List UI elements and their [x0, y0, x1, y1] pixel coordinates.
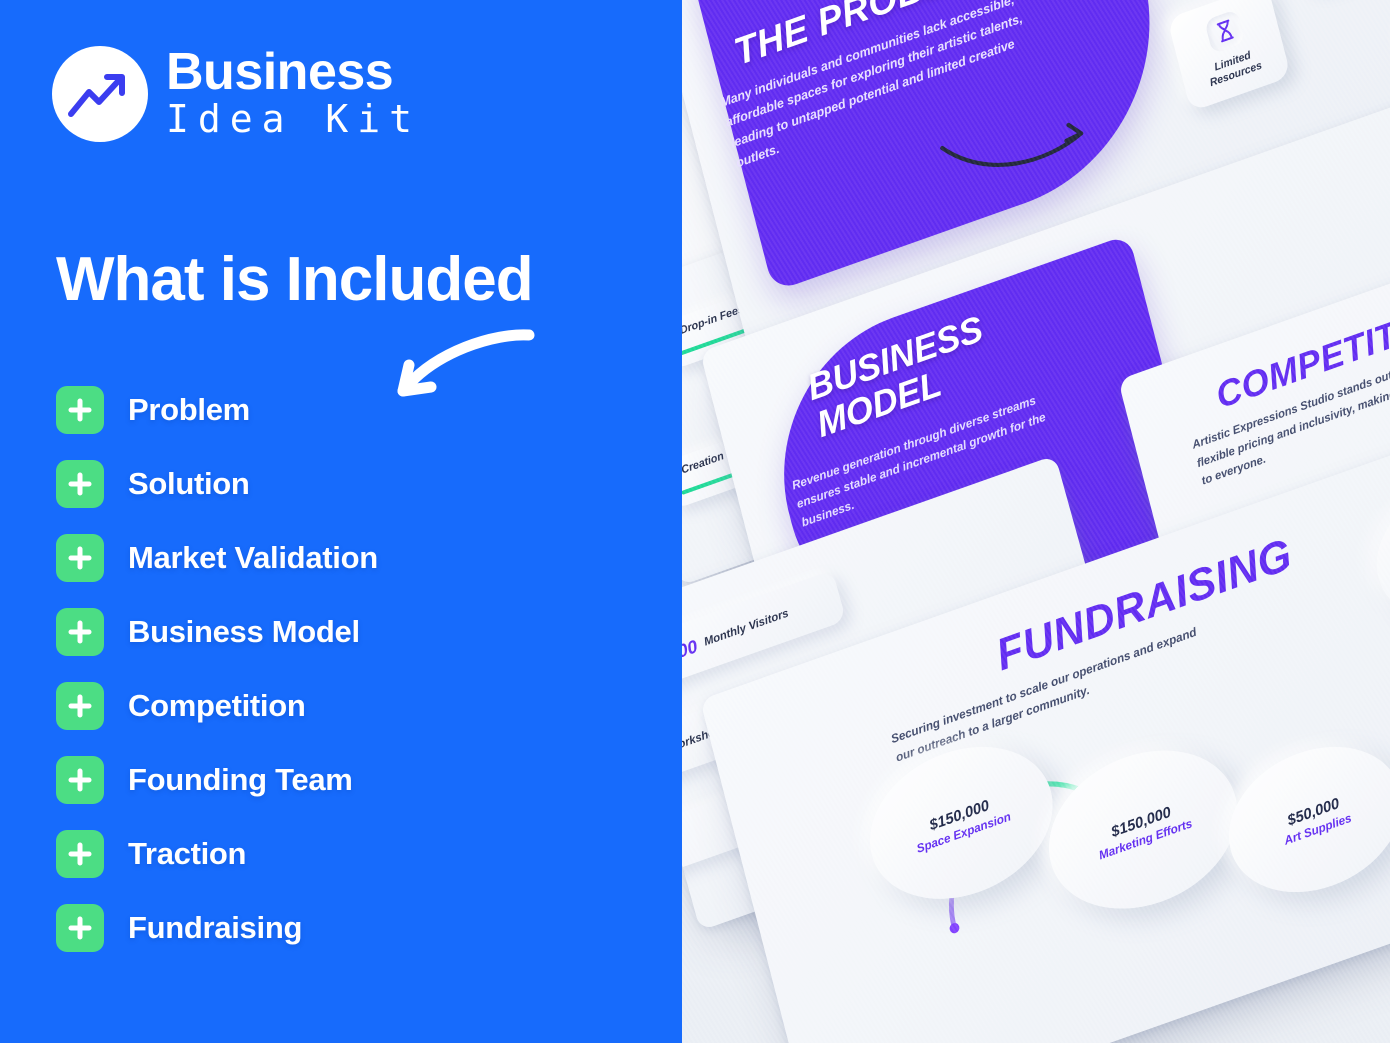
list-item-problem[interactable]: Problem	[56, 386, 616, 434]
left-blue-panel: Business Idea Kit What is Included Probl…	[0, 0, 682, 1043]
plus-icon	[56, 904, 104, 952]
plus-icon	[56, 830, 104, 878]
brand-logo: Business Idea Kit	[52, 46, 421, 142]
growth-chart-arrow-icon	[52, 46, 148, 142]
list-item-label: Problem	[128, 392, 250, 428]
fundraising-bubble-decor	[1362, 458, 1390, 640]
traction-stat-label: Monthly Visitors	[703, 607, 790, 648]
presentation-promo-graphic: Drop-in Fees Creation Workshops THE PROB…	[0, 0, 1390, 1043]
brand-wordmark: Business Idea Kit	[166, 46, 421, 142]
list-item-traction[interactable]: Traction	[56, 830, 616, 878]
list-item-label: Solution	[128, 466, 250, 502]
list-item-business-model[interactable]: Business Model	[56, 608, 616, 656]
plus-icon	[56, 756, 104, 804]
list-item-label: Market Validation	[128, 540, 378, 576]
plus-icon	[56, 608, 104, 656]
plus-icon	[56, 460, 104, 508]
brand-name-line2: Idea Kit	[166, 98, 421, 142]
list-item-label: Competition	[128, 688, 306, 724]
list-item-competition[interactable]: Competition	[56, 682, 616, 730]
chip-label: Limited Resources	[1187, 40, 1282, 96]
plus-icon	[56, 386, 104, 434]
list-item-solution[interactable]: Solution	[56, 460, 616, 508]
list-item-label: Business Model	[128, 614, 360, 650]
plus-icon	[56, 682, 104, 730]
page-title: What is Included	[56, 244, 533, 315]
list-item-founding-team[interactable]: Founding Team	[56, 756, 616, 804]
included-items-list: Problem Solution Market Validation Busin…	[56, 386, 616, 978]
problem-chip-limited-resources: Limited Resources	[1167, 0, 1291, 112]
list-item-fundraising[interactable]: Fundraising	[56, 904, 616, 952]
hourglass-icon	[1204, 9, 1245, 54]
list-item-market-validation[interactable]: Market Validation	[56, 534, 616, 582]
list-item-label: Fundraising	[128, 910, 302, 946]
brand-name-line1: Business	[166, 46, 421, 98]
list-item-label: Traction	[128, 836, 246, 872]
plus-icon	[56, 534, 104, 582]
list-item-label: Founding Team	[128, 762, 353, 798]
